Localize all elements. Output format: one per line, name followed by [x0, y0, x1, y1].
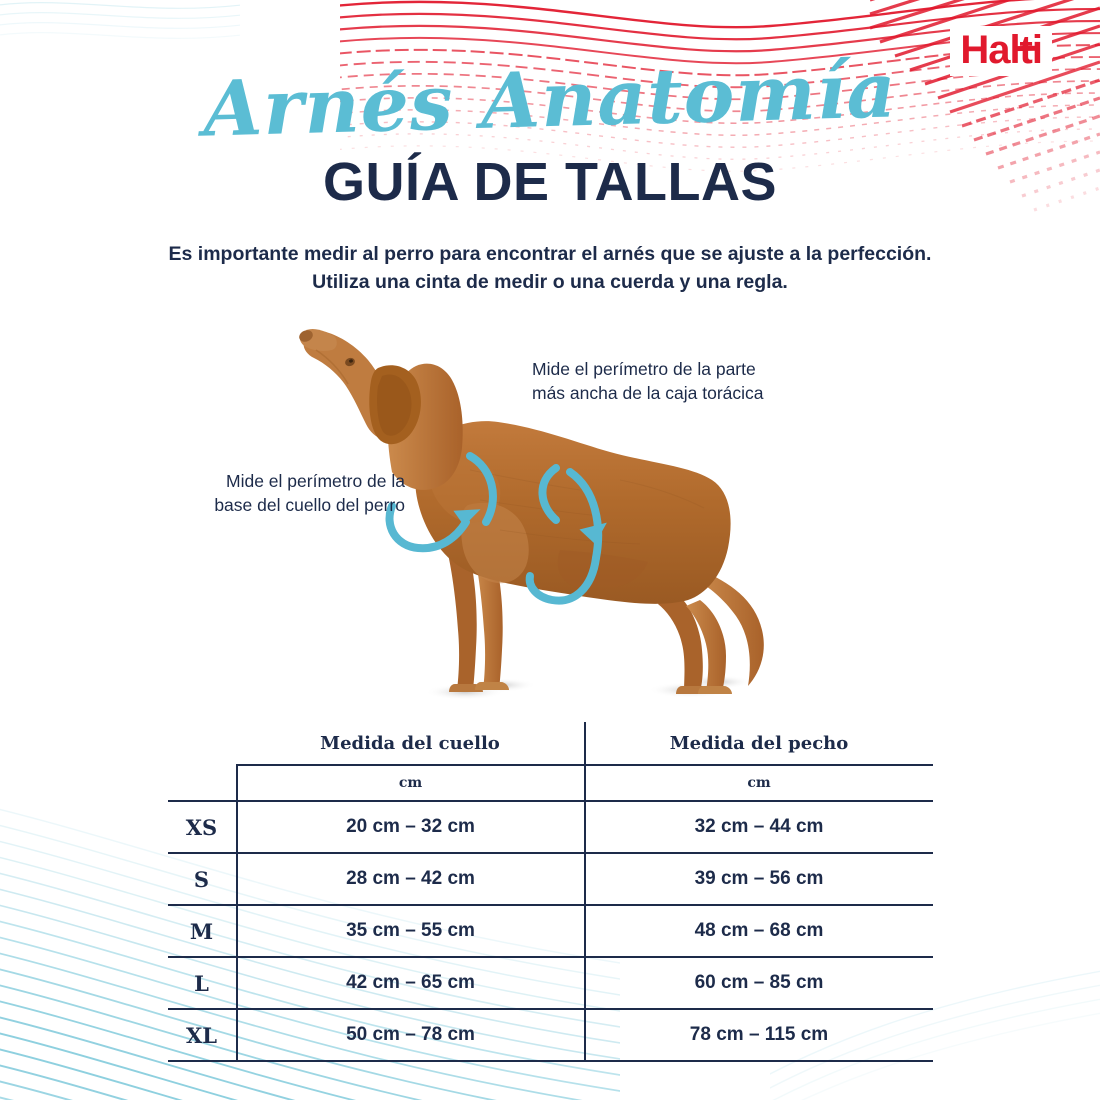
page-title: GUÍA DE TALLAS: [0, 155, 1100, 209]
row-chest-value: 78 cm – 115 cm: [585, 1009, 933, 1061]
row-neck-value: 20 cm – 32 cm: [237, 801, 585, 853]
page-subtitle: Es importante medir al perro para encont…: [0, 240, 1100, 297]
row-neck-value: 42 cm – 65 cm: [237, 957, 585, 1009]
brand-logo: Halti: [950, 26, 1052, 76]
row-neck-value: 28 cm – 42 cm: [237, 853, 585, 905]
table-unit-row: cm cm: [168, 765, 933, 801]
size-table: Medida del cuello Medida del pecho cm cm…: [168, 722, 933, 1062]
size-guide-page: Halti Arnés Anatomía GUÍA DE TALLAS Es i…: [0, 0, 1100, 1100]
unit-spacer: [168, 765, 237, 801]
row-chest-value: 48 cm – 68 cm: [585, 905, 933, 957]
callout-chest-line-1: Mide el perímetro de la parte: [532, 358, 832, 382]
row-size-label: XL: [168, 1009, 237, 1061]
table-row: XL 50 cm – 78 cm 78 cm – 115 cm: [168, 1009, 933, 1061]
row-size-label: L: [168, 957, 237, 1009]
subtitle-line-2: Utiliza una cinta de medir o una cuerda …: [0, 268, 1100, 296]
size-table-container: Medida del cuello Medida del pecho cm cm…: [0, 722, 1100, 1062]
callout-chest-line-2: más ancha de la caja torácica: [532, 382, 832, 406]
row-chest-value: 39 cm – 56 cm: [585, 853, 933, 905]
table-group-header-row: Medida del cuello Medida del pecho: [168, 722, 933, 765]
row-size-label: S: [168, 853, 237, 905]
unit-neck: cm: [237, 765, 585, 801]
dog-illustration: Mide el perímetro de la parte más ancha …: [0, 300, 1100, 720]
table-row: XS 20 cm – 32 cm 32 cm – 44 cm: [168, 801, 933, 853]
row-neck-value: 50 cm – 78 cm: [237, 1009, 585, 1061]
row-neck-value: 35 cm – 55 cm: [237, 905, 585, 957]
row-chest-value: 60 cm – 85 cm: [585, 957, 933, 1009]
header-chest: Medida del pecho: [585, 722, 933, 765]
unit-chest: cm: [585, 765, 933, 801]
callout-neck: Mide el perímetro de la base del cuello …: [160, 470, 405, 517]
callout-neck-line-1: Mide el perímetro de la: [160, 470, 405, 494]
logo-crossbar: [1013, 46, 1036, 51]
table-row: S 28 cm – 42 cm 39 cm – 56 cm: [168, 853, 933, 905]
callout-chest: Mide el perímetro de la parte más ancha …: [532, 358, 832, 405]
table-row: L 42 cm – 65 cm 60 cm – 85 cm: [168, 957, 933, 1009]
table-row: M 35 cm – 55 cm 48 cm – 68 cm: [168, 905, 933, 957]
subtitle-line-1: Es importante medir al perro para encont…: [0, 240, 1100, 268]
row-size-label: M: [168, 905, 237, 957]
page-title-script: Arnés Anatomía: [0, 47, 1100, 154]
header-spacer: [168, 722, 237, 765]
row-chest-value: 32 cm – 44 cm: [585, 801, 933, 853]
row-size-label: XS: [168, 801, 237, 853]
callout-neck-line-2: base del cuello del perro: [160, 494, 405, 518]
header-neck: Medida del cuello: [237, 722, 585, 765]
